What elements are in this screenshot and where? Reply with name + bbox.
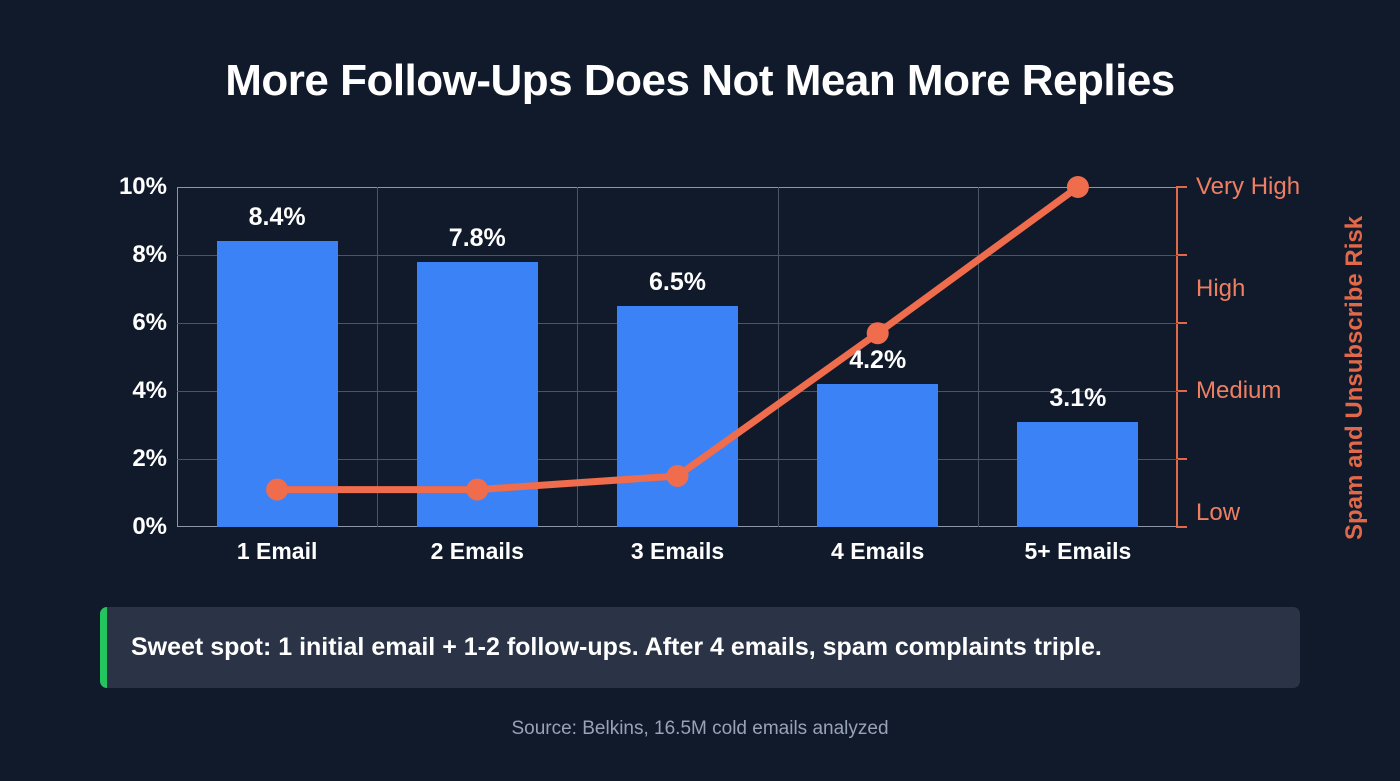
right-tick-label: Low — [1196, 499, 1240, 527]
line-marker-3 — [667, 465, 689, 487]
right-tick-label: Very High — [1196, 173, 1300, 201]
axis-tick — [1178, 390, 1187, 392]
left-tick-label: 8% — [132, 241, 167, 269]
axis-tick — [1178, 458, 1187, 460]
right-tick-label: High — [1196, 275, 1245, 303]
right-tick-label: Medium — [1196, 377, 1281, 405]
axis-tick — [1178, 526, 1187, 528]
x-tick-label: 4 Emails — [778, 538, 978, 565]
line-marker-4 — [867, 322, 889, 344]
chart-canvas: More Follow-Ups Does Not Mean More Repli… — [0, 0, 1400, 781]
left-tick-label: 2% — [132, 445, 167, 473]
source-note: Source: Belkins, 16.5M cold emails analy… — [0, 718, 1400, 740]
insight-callout: Sweet spot: 1 initial email + 1-2 follow… — [100, 607, 1300, 688]
line-marker-2 — [466, 479, 488, 501]
page-title: More Follow-Ups Does Not Mean More Repli… — [0, 56, 1400, 106]
x-tick-label: 2 Emails — [377, 538, 577, 565]
bar-value-label: 3.1% — [998, 384, 1158, 413]
bar-value-label: 7.8% — [397, 224, 557, 253]
axis-tick — [1178, 186, 1187, 188]
plot-area — [177, 187, 1178, 527]
bar-value-label: 8.4% — [197, 203, 357, 232]
left-tick-label: 0% — [132, 513, 167, 541]
bar-value-label: 4.2% — [798, 346, 958, 375]
left-tick-label: 4% — [132, 377, 167, 405]
x-tick-label: 5+ Emails — [978, 538, 1178, 565]
bar-value-label: 6.5% — [598, 268, 758, 297]
right-axis-title: Spam and Unsubscribe Risk — [1341, 216, 1369, 540]
axis-tick — [1178, 254, 1187, 256]
axis-tick — [1178, 322, 1187, 324]
x-tick-label: 3 Emails — [577, 538, 777, 565]
risk-line-series — [177, 187, 1178, 527]
x-tick-label: 1 Email — [177, 538, 377, 565]
left-tick-label: 6% — [132, 309, 167, 337]
line-marker-5 — [1067, 176, 1089, 198]
line-marker-1 — [266, 479, 288, 501]
callout-text: Sweet spot: 1 initial email + 1-2 follow… — [100, 633, 1102, 662]
callout-accent-bar — [100, 607, 107, 688]
left-tick-label: 10% — [119, 173, 167, 201]
